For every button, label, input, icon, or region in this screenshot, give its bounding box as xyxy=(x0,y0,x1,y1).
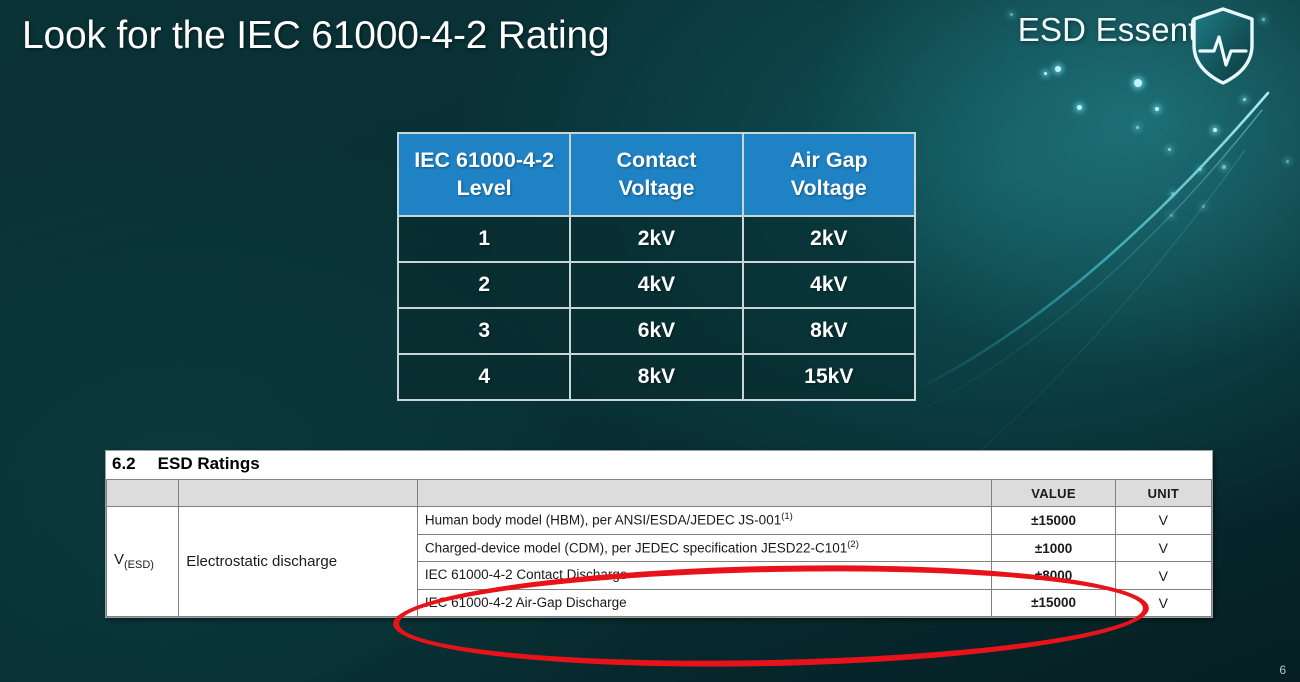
table-row: 3 6kV 8kV xyxy=(398,308,915,354)
spark-dot xyxy=(1286,160,1289,163)
col-header-iec-level: IEC 61000-4-2 Level xyxy=(398,133,570,216)
col-header-condition xyxy=(417,480,992,507)
cell-air-gap: 15kV xyxy=(743,354,915,400)
esd-table-body: V(ESD) Electrostatic discharge Human bod… xyxy=(107,507,1212,617)
iec-level-table: IEC 61000-4-2 Level Contact Voltage Air … xyxy=(397,132,916,401)
cell-level: 4 xyxy=(398,354,570,400)
spark-dot xyxy=(1199,168,1202,171)
col-header-air-gap-voltage: Air Gap Voltage xyxy=(743,133,915,216)
esd-table-head: VALUE UNIT xyxy=(107,480,1212,507)
spark-dot xyxy=(1134,79,1142,87)
spark-dot xyxy=(1155,107,1159,111)
cell-contact: 4kV xyxy=(570,262,742,308)
cell-value: ±1000 xyxy=(992,534,1115,562)
table-header-row: VALUE UNIT xyxy=(107,480,1212,507)
esd-ratings-table: VALUE UNIT V(ESD) Electrostatic discharg… xyxy=(106,479,1212,617)
footnote-marker: (1) xyxy=(781,511,793,522)
cell-unit: V xyxy=(1115,507,1211,535)
col-header-symbol xyxy=(107,480,179,507)
cell-air-gap: 2kV xyxy=(743,216,915,262)
col-header-unit: UNIT xyxy=(1115,480,1211,507)
cell-contact: 6kV xyxy=(570,308,742,354)
cell-value: ±8000 xyxy=(992,562,1115,589)
slide-canvas: Look for the IEC 61000-4-2 Rating ESD Es… xyxy=(0,0,1300,682)
spark-dot xyxy=(1202,205,1205,208)
cell-condition: Human body model (HBM), per ANSI/ESDA/JE… xyxy=(417,507,992,535)
cell-air-gap: 4kV xyxy=(743,262,915,308)
brand-logo: ESD Essentials xyxy=(1018,11,1248,49)
spark-dot xyxy=(1170,214,1173,217)
cell-condition: IEC 61000-4-2 Contact Discharge xyxy=(417,562,992,589)
datasheet-section-header: 6.2 ESD Ratings xyxy=(106,451,1212,479)
cell-air-gap: 8kV xyxy=(743,308,915,354)
spark-dot xyxy=(1243,98,1246,101)
col-header-contact-voltage: Contact Voltage xyxy=(570,133,742,216)
spark-dot xyxy=(1213,128,1217,132)
cell-symbol: V(ESD) xyxy=(107,507,179,617)
col-header-parameter xyxy=(179,480,418,507)
cell-level: 1 xyxy=(398,216,570,262)
spark-dot xyxy=(1222,165,1226,169)
page-title: Look for the IEC 61000-4-2 Rating xyxy=(22,14,609,58)
cell-contact: 2kV xyxy=(570,216,742,262)
spark-dot xyxy=(1136,126,1139,129)
cell-level: 2 xyxy=(398,262,570,308)
spark-dot xyxy=(1077,105,1082,110)
table-row: 4 8kV 15kV xyxy=(398,354,915,400)
symbol-subscript: (ESD) xyxy=(124,559,154,571)
iec-table-head: IEC 61000-4-2 Level Contact Voltage Air … xyxy=(398,133,915,216)
cell-condition: Charged-device model (CDM), per JEDEC sp… xyxy=(417,534,992,562)
cell-level: 3 xyxy=(398,308,570,354)
section-title: ESD Ratings xyxy=(158,454,260,474)
col-header-value: VALUE xyxy=(992,480,1115,507)
iec-table-body: 1 2kV 2kV 2 4kV 4kV 3 6kV 8kV 4 8kV 15kV xyxy=(398,216,915,400)
shield-pulse-icon xyxy=(1190,7,1256,85)
page-number: 6 xyxy=(1279,663,1286,677)
spark-dot xyxy=(1262,18,1265,21)
footnote-marker: (2) xyxy=(847,539,859,550)
datasheet-excerpt: 6.2 ESD Ratings VALUE UNIT xyxy=(105,450,1213,618)
spark-dot xyxy=(1168,148,1171,151)
cell-contact: 8kV xyxy=(570,354,742,400)
spark-dot xyxy=(1171,192,1174,195)
cell-unit: V xyxy=(1115,589,1211,616)
cell-parameter: Electrostatic discharge xyxy=(179,507,418,617)
spark-dot xyxy=(1010,13,1013,16)
table-row: V(ESD) Electrostatic discharge Human bod… xyxy=(107,507,1212,535)
table-row: 1 2kV 2kV xyxy=(398,216,915,262)
spark-dot xyxy=(1055,66,1061,72)
cell-unit: V xyxy=(1115,534,1211,562)
cell-unit: V xyxy=(1115,562,1211,589)
cell-value: ±15000 xyxy=(992,507,1115,535)
cell-value: ±15000 xyxy=(992,589,1115,616)
table-row: 2 4kV 4kV xyxy=(398,262,915,308)
table-header-row: IEC 61000-4-2 Level Contact Voltage Air … xyxy=(398,133,915,216)
cell-condition: IEC 61000-4-2 Air-Gap Discharge xyxy=(417,589,992,616)
spark-dot xyxy=(1044,72,1047,75)
section-number: 6.2 xyxy=(112,454,136,474)
